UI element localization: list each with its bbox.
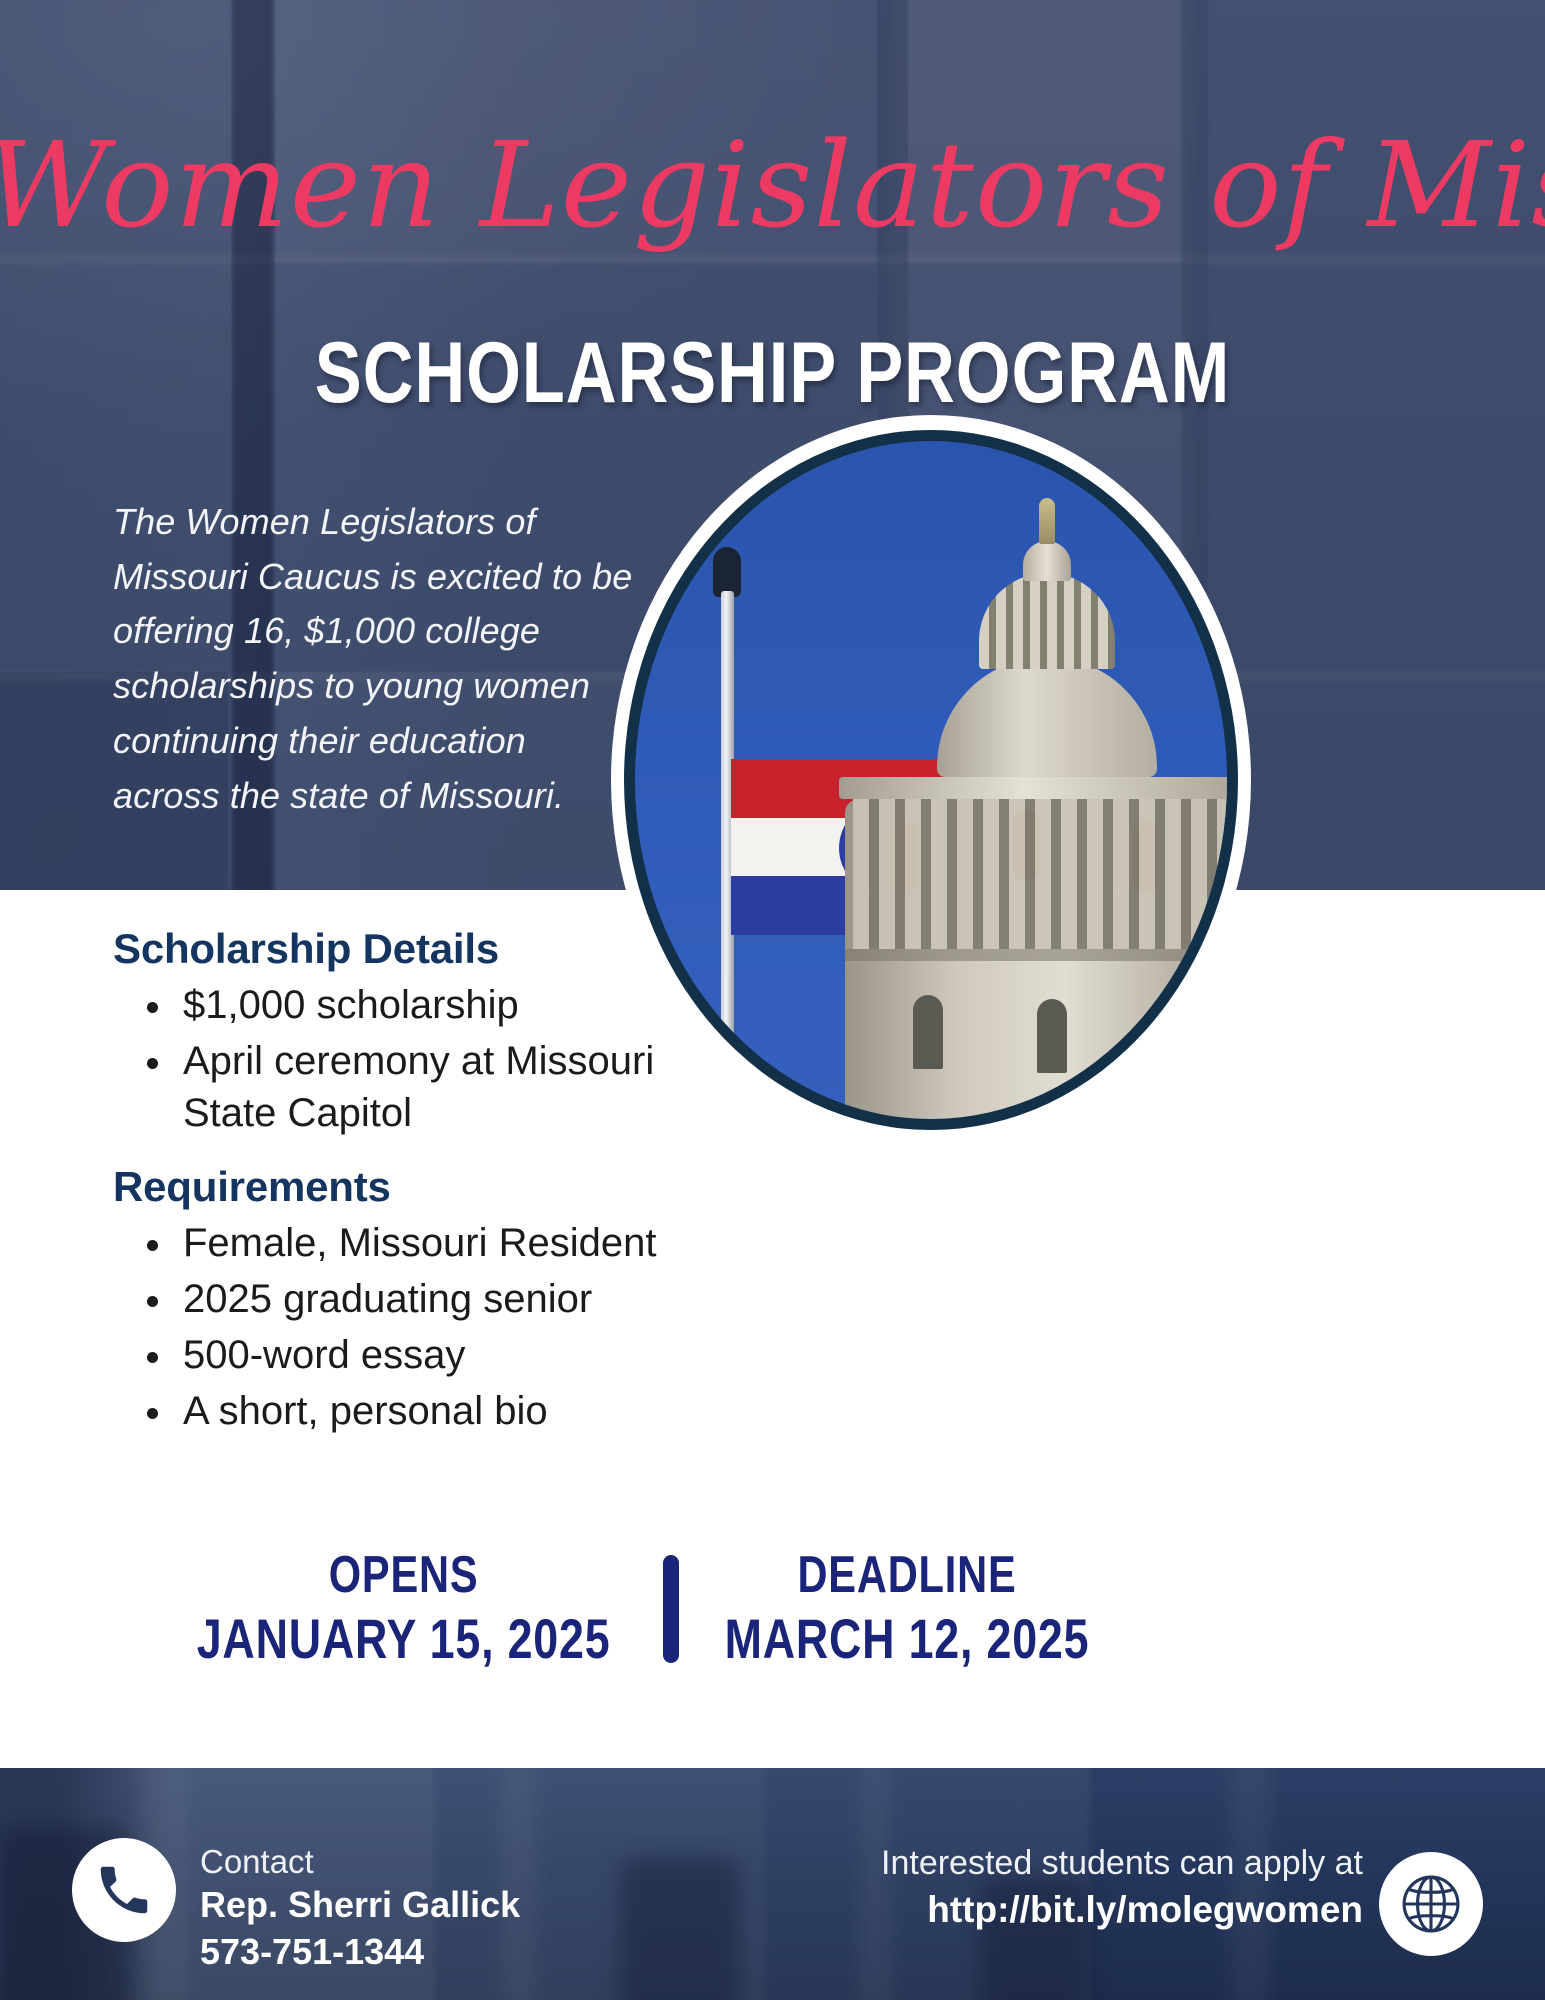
photo-image [635,441,1227,1119]
dome-cornice [839,777,1227,799]
dome-window [1161,995,1191,1069]
list-item: April ceremony at Missouri State Capitol [135,1035,673,1139]
organization-title: Women Legislators of Missouri [0,122,1545,249]
key-dates: OPENS JANUARY 15, 2025 DEADLINE MARCH 12… [180,1546,1100,1672]
deadline-date-block: DEADLINE MARCH 12, 2025 [724,1546,1089,1672]
list-item: $1,000 scholarship [135,979,673,1031]
opens-value: JANUARY 15, 2025 [197,1606,611,1672]
dates-divider [663,1555,679,1663]
list-item: 2025 graduating senior [135,1273,673,1325]
flag-finial [713,547,741,597]
scholarship-details-list: $1,000 scholarship April ceremony at Mis… [135,979,673,1139]
dome-cupola-base [937,657,1157,777]
requirements-heading: Requirements [113,1163,673,1211]
apply-info: Interested students can apply at http://… [881,1842,1363,1934]
details-lists: Scholarship Details $1,000 scholarship A… [113,925,673,1441]
scholarship-details-heading: Scholarship Details [113,925,673,973]
footer-texture [620,1858,740,2000]
dome-statue [1039,498,1055,544]
capitol-dome [817,509,1227,1119]
globe-icon [1379,1852,1483,1956]
list-item: Female, Missouri Resident [135,1217,673,1269]
phone-icon [72,1838,176,1942]
list-item: 500-word essay [135,1329,673,1381]
dome-colonnade [853,789,1227,949]
deadline-label: DEADLINE [724,1546,1089,1606]
program-title: SCHOLARSHIP PROGRAM [139,330,1406,416]
opens-date-block: OPENS JANUARY 15, 2025 [197,1546,611,1672]
dome-window [1037,999,1067,1073]
dome-window [913,995,943,1069]
deadline-value: MARCH 12, 2025 [724,1606,1089,1672]
dome-lantern [1023,541,1071,581]
contact-label: Contact [200,1842,520,1882]
apply-url[interactable]: http://bit.ly/molegwomen [881,1886,1363,1934]
apply-label: Interested students can apply at [881,1842,1363,1886]
dome-band [845,949,1227,961]
dome-cupola [979,573,1115,669]
list-item: A short, personal bio [135,1385,673,1437]
contact-text: Contact Rep. Sherri Gallick 573-751-1344 [200,1838,520,1976]
requirements-list: Female, Missouri Resident 2025 graduatin… [135,1217,673,1437]
contact-phone[interactable]: 573-751-1344 [200,1929,520,1976]
contact-name: Rep. Sherri Gallick [200,1882,520,1929]
capitol-photo [611,415,1251,1145]
intro-paragraph: The Women Legislators of Missouri Caucus… [113,495,633,823]
contact-info: Contact Rep. Sherri Gallick 573-751-1344 [72,1838,520,1976]
opens-label: OPENS [197,1546,611,1606]
scholarship-flyer: Women Legislators of Missouri SCHOLARSHI… [0,0,1545,2000]
